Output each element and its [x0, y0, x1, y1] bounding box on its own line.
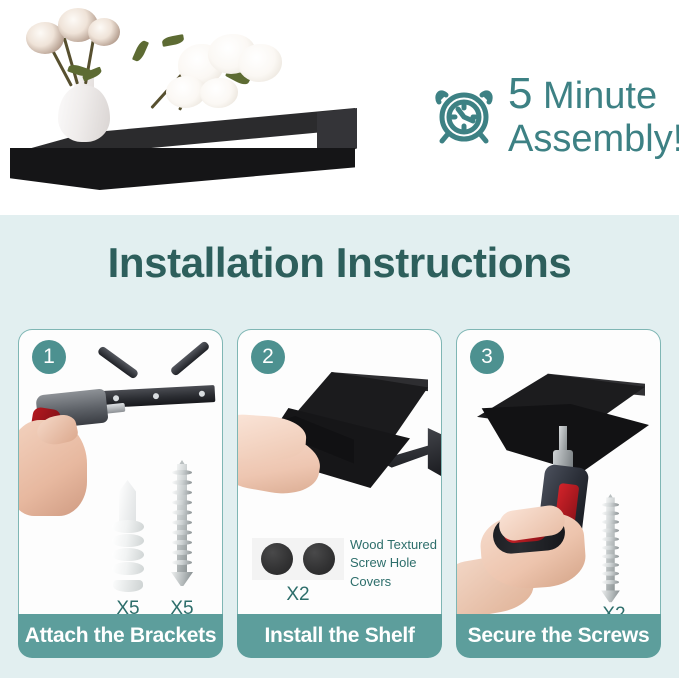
step-number-badge: 2	[251, 340, 285, 374]
screw-thread	[172, 500, 192, 505]
step-card-1: 1	[18, 329, 223, 658]
flower-bloom	[88, 18, 120, 46]
assembly-text-block: 5 Minute Assembly!	[508, 72, 679, 158]
screw	[171, 460, 193, 594]
step-card-3: 3	[456, 329, 661, 658]
shelf-front-face	[10, 148, 355, 190]
anchor-head	[113, 580, 143, 592]
screw-hole-cover-dot	[261, 543, 293, 575]
screw-thread	[602, 511, 619, 515]
screw-thread	[172, 540, 192, 545]
screw-thread	[602, 554, 619, 558]
anchor-qty-label: X5	[105, 598, 151, 614]
screw-thread	[602, 580, 619, 584]
screw-thread	[172, 510, 192, 515]
screw-thread	[602, 537, 619, 541]
screw-head	[601, 590, 620, 602]
orchid-leaf	[132, 39, 149, 63]
screw-thread	[602, 563, 619, 567]
screw-thread	[172, 480, 192, 485]
step-2-footer-label: Install the Shelf	[237, 614, 442, 658]
hero-section: 5 Minute Assembly!	[0, 0, 679, 215]
screw-hole-cover-dot	[303, 543, 335, 575]
orchid-bloom	[200, 78, 238, 108]
bracket-arm-right	[169, 340, 210, 376]
screw-thread	[172, 490, 192, 495]
screw	[601, 494, 620, 609]
anchor-thread	[112, 520, 144, 533]
screw-thread	[172, 560, 192, 565]
anchor-thread	[112, 548, 144, 561]
screw-qty-label: X2	[591, 604, 637, 614]
bracket-screw-hole	[199, 391, 205, 397]
screw-thread	[602, 503, 619, 507]
anchor-thread	[112, 534, 144, 547]
step-1-footer-label: Attach the Brackets	[18, 614, 223, 658]
step-3-body: 3	[456, 329, 661, 614]
step-card-2: 2 Wood Texture	[237, 329, 442, 658]
step-2-body: 2 Wood Texture	[237, 329, 442, 614]
assembly-word: Assembly!	[508, 120, 679, 158]
instructions-section: Installation Instructions 1	[0, 215, 679, 678]
screw-thread	[602, 520, 619, 524]
screw-thread	[172, 470, 192, 475]
page-title: Installation Instructions	[0, 239, 679, 287]
wall-anchor	[111, 480, 145, 592]
white-vase	[58, 86, 110, 142]
screw-thread	[602, 546, 619, 550]
step-number-badge: 3	[470, 340, 504, 374]
step-number-badge: 1	[32, 340, 66, 374]
anchor-tip	[119, 480, 136, 524]
screw-thread	[172, 530, 192, 535]
step-1-body: 1	[18, 329, 223, 614]
covers-qty-label: X2	[252, 584, 344, 606]
screw-thread	[172, 550, 192, 555]
assembly-minute-word: Minute	[543, 75, 657, 117]
screw-thread	[172, 520, 192, 525]
assembly-minutes-number: 5	[508, 69, 532, 118]
screw-hole-covers-swatch	[252, 538, 344, 580]
bracket-arm-left	[97, 345, 140, 379]
steps-container: 1	[18, 329, 661, 658]
alarm-clock-icon	[432, 81, 496, 150]
screw-thread	[602, 571, 619, 575]
screw-hole-covers-caption: Wood Textured Screw Hole Covers	[350, 536, 440, 591]
orchid-leaf	[161, 34, 184, 47]
screw-head	[171, 572, 193, 586]
product-infographic: 5 Minute Assembly! Installation Instruct…	[0, 0, 679, 678]
anchor-thread	[112, 562, 144, 575]
screw-qty-label: X5	[159, 598, 205, 614]
orchid-bloom	[238, 44, 282, 82]
step-3-footer-label: Secure the Screws	[456, 614, 661, 658]
bracket-screw-hole	[113, 395, 119, 401]
assembly-time-badge: 5 Minute Assembly!	[432, 72, 679, 158]
screw-thread	[602, 528, 619, 532]
bracket-screw-hole	[153, 393, 159, 399]
